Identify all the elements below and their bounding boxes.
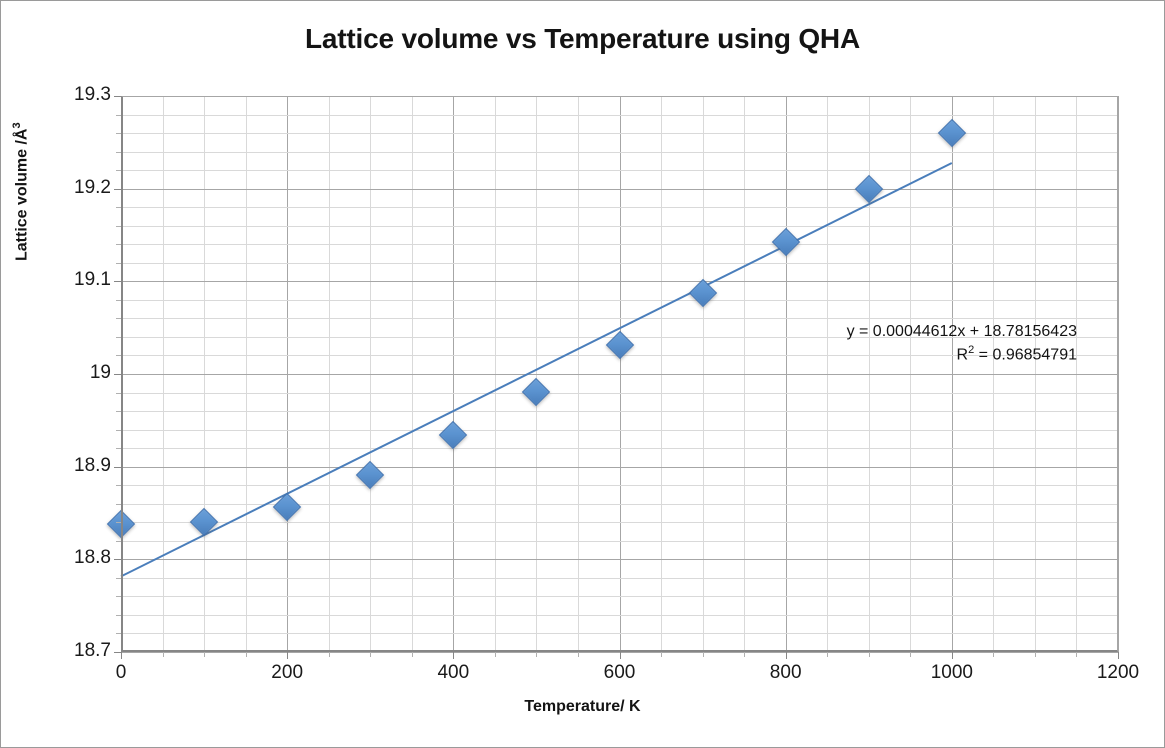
y-tick-minor (116, 226, 121, 227)
y-axis-tick-label: 18.7 (41, 640, 111, 662)
chart-frame: Lattice volume vs Temperature using QHA … (0, 0, 1165, 748)
y-axis-tick-label: 18.8 (41, 547, 111, 569)
x-axis-tick-label: 400 (437, 662, 469, 684)
trendline (121, 96, 1118, 652)
y-tick-major (114, 559, 121, 560)
y-tick-major (114, 281, 121, 282)
x-axis-tick-label: 800 (770, 662, 802, 684)
x-tick-minor (661, 652, 662, 657)
y-axis-tick-label: 18.9 (41, 455, 111, 477)
x-tick-major (453, 652, 454, 659)
y-tick-major (114, 96, 121, 97)
r-squared-prefix: R (957, 347, 969, 364)
y-tick-minor (116, 448, 121, 449)
x-tick-minor (329, 652, 330, 657)
x-tick-minor (578, 652, 579, 657)
y-tick-minor (116, 152, 121, 153)
y-tick-minor (116, 207, 121, 208)
x-axis-title: Temperature/ K (1, 698, 1164, 716)
x-tick-major (952, 652, 953, 659)
gridline-x-major (1118, 96, 1119, 652)
y-tick-minor (116, 263, 121, 264)
trendline-segment (121, 163, 952, 576)
y-tick-minor (116, 115, 121, 116)
x-tick-minor (370, 652, 371, 657)
trendline-equation-label: y = 0.00044612x + 18.78156423 R2 = 0.968… (787, 320, 1077, 367)
y-tick-minor (116, 541, 121, 542)
y-axis-title: Lattice volume /Å3 (11, 122, 31, 261)
x-tick-major (287, 652, 288, 659)
y-axis-tick-label: 19.3 (41, 84, 111, 106)
x-tick-minor (703, 652, 704, 657)
y-tick-major (114, 189, 121, 190)
x-tick-major (786, 652, 787, 659)
y-axis-tick-label: 19 (41, 362, 111, 384)
y-tick-minor (116, 633, 121, 634)
x-tick-minor (827, 652, 828, 657)
x-tick-minor (910, 652, 911, 657)
x-tick-major (1118, 652, 1119, 659)
equation-line: y = 0.00044612x + 18.78156423 (787, 320, 1077, 343)
y-tick-minor (116, 133, 121, 134)
y-tick-minor (116, 615, 121, 616)
x-tick-major (620, 652, 621, 659)
x-tick-major (121, 652, 122, 659)
x-axis-tick-label: 600 (604, 662, 636, 684)
y-tick-minor (116, 300, 121, 301)
x-tick-minor (744, 652, 745, 657)
y-tick-minor (116, 318, 121, 319)
y-axis-title-text: Lattice volume /Å (13, 129, 30, 261)
y-tick-minor (116, 430, 121, 431)
y-tick-minor (116, 578, 121, 579)
x-tick-minor (1076, 652, 1077, 657)
y-tick-minor (116, 355, 121, 356)
y-axis-tick-label: 19.2 (41, 177, 111, 199)
y-tick-major (114, 374, 121, 375)
y-tick-minor (116, 596, 121, 597)
y-tick-minor (116, 244, 121, 245)
y-axis-tick-label: 19.1 (41, 269, 111, 291)
x-axis-tick-label: 200 (271, 662, 303, 684)
y-tick-minor (116, 170, 121, 171)
y-tick-minor (116, 411, 121, 412)
y-tick-minor (116, 393, 121, 394)
plot-area (121, 96, 1118, 652)
x-tick-minor (993, 652, 994, 657)
r-squared-line: R2 = 0.96854791 (787, 343, 1077, 367)
r-squared-value: = 0.96854791 (974, 347, 1077, 364)
y-tick-minor (116, 522, 121, 523)
x-tick-minor (246, 652, 247, 657)
x-tick-minor (869, 652, 870, 657)
y-axis-title-superscript: 3 (11, 122, 23, 128)
x-axis-tick-label: 1000 (931, 662, 973, 684)
y-tick-major (114, 652, 121, 653)
y-tick-minor (116, 504, 121, 505)
x-tick-minor (163, 652, 164, 657)
x-tick-minor (204, 652, 205, 657)
x-axis-tick-label: 1200 (1097, 662, 1139, 684)
chart-title: Lattice volume vs Temperature using QHA (1, 23, 1164, 55)
y-tick-major (114, 467, 121, 468)
x-tick-minor (412, 652, 413, 657)
x-tick-minor (536, 652, 537, 657)
y-tick-minor (116, 485, 121, 486)
y-tick-minor (116, 337, 121, 338)
x-axis-tick-label: 0 (116, 662, 127, 684)
x-tick-minor (495, 652, 496, 657)
x-tick-minor (1035, 652, 1036, 657)
